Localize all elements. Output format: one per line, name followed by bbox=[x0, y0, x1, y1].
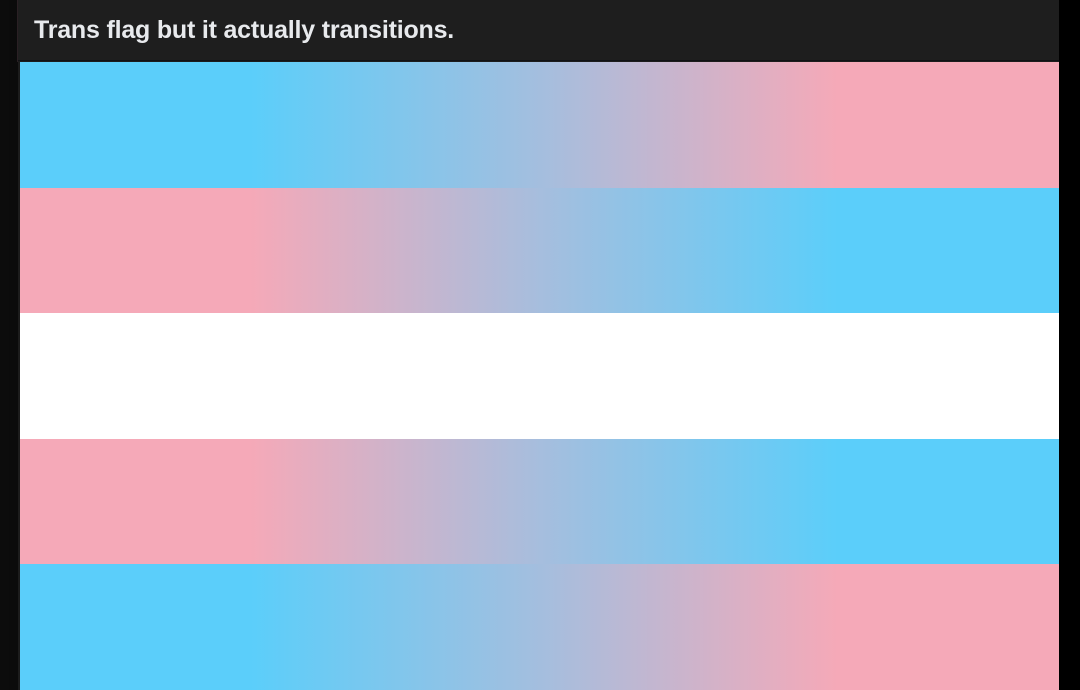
right-gutter bbox=[1059, 0, 1080, 690]
flag-image bbox=[20, 62, 1068, 690]
page-root: Trans flag but it actually transitions. bbox=[0, 0, 1080, 690]
page-title: Trans flag but it actually transitions. bbox=[18, 18, 454, 43]
stripe-white-center bbox=[20, 313, 1068, 439]
post-header: Trans flag but it actually transitions. bbox=[18, 0, 1068, 61]
stripe-pink-to-blue-lower bbox=[20, 439, 1068, 565]
stripe-pink-to-blue-upper bbox=[20, 188, 1068, 314]
stripe-blue-to-pink-top bbox=[20, 62, 1068, 188]
left-gutter bbox=[9, 0, 18, 690]
stripe-blue-to-pink-bottom bbox=[20, 564, 1068, 690]
post-card: Trans flag but it actually transitions. bbox=[0, 0, 1063, 690]
